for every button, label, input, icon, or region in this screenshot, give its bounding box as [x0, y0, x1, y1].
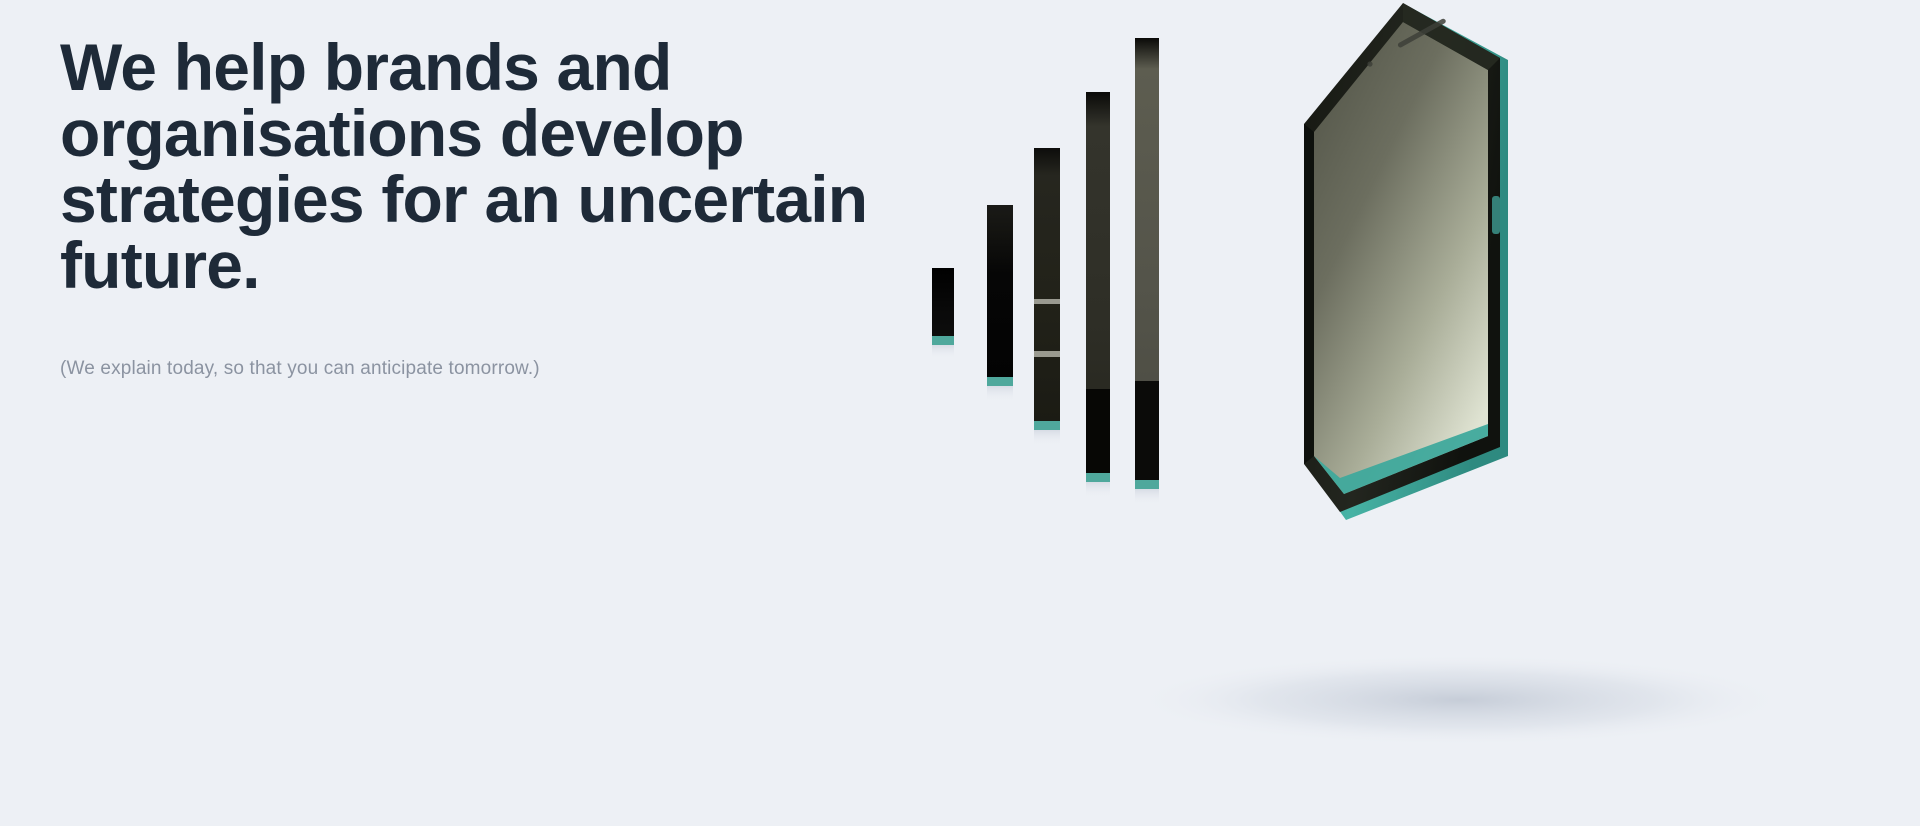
phone-side-button	[1492, 196, 1500, 234]
phone-left-edge	[1304, 124, 1314, 464]
chart-bar-2-shadow	[987, 386, 1013, 402]
chart-bar-2-accent-cap	[987, 377, 1013, 386]
chart-bar-5-lower-segment	[1135, 381, 1159, 480]
chart-bar-5-shadow	[1135, 489, 1159, 505]
chart-bar-4-shadow	[1086, 482, 1110, 498]
page-title: We help brands and organisations develop…	[60, 34, 880, 298]
chart-bar-1-shadow	[932, 345, 954, 359]
chart-bar-4	[1086, 92, 1110, 498]
chart-bar-3-body	[1034, 148, 1060, 421]
chart-bar-3-accent-cap	[1034, 421, 1060, 430]
chart-bar-5	[1135, 38, 1159, 505]
chart-bar-1	[932, 268, 954, 359]
chart-bar-2-body	[987, 205, 1013, 377]
chart-bar-3-highlight-band-upper	[1034, 299, 1060, 304]
chart-bar-4-lower-segment	[1086, 389, 1110, 473]
hero-illustration	[900, 0, 1920, 826]
phone-drop-shadow	[1130, 654, 1790, 746]
chart-bar-5-accent-cap	[1135, 480, 1159, 489]
hero-subtitle: (We explain today, so that you can antic…	[60, 298, 900, 384]
chart-bar-3-highlight-band-lower	[1034, 351, 1060, 357]
phone-front-camera-icon	[1367, 61, 1372, 66]
chart-bar-1-body	[932, 268, 954, 336]
chart-bar-3	[1034, 148, 1060, 446]
phone-and-bars-graphic	[900, 0, 1920, 826]
chart-bar-4-accent-cap	[1086, 473, 1110, 482]
canvas-right-fade	[1900, 0, 1920, 826]
hero-section: We help brands and organisations develop…	[0, 0, 1920, 826]
chart-bar-1-accent-cap	[932, 336, 954, 345]
chart-bar-3-shadow	[1034, 430, 1060, 446]
hero-copy: We help brands and organisations develop…	[60, 34, 900, 384]
chart-bar-2	[987, 205, 1013, 402]
